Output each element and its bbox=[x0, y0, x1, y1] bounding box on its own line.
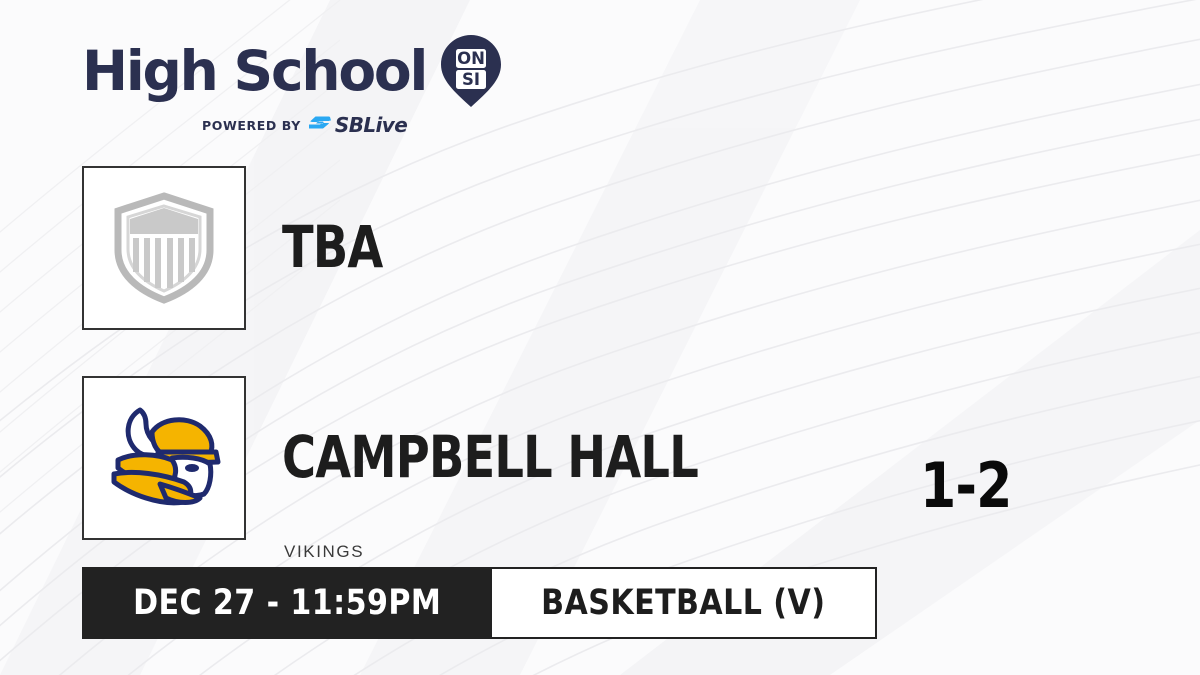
sblive-logo: SBLive bbox=[309, 115, 407, 135]
pin-text-si: SI bbox=[462, 70, 480, 89]
home-team-logo-box bbox=[82, 376, 246, 540]
brand-logo: High School ON SI POWERED BY SBLive bbox=[82, 34, 502, 135]
pin-text-on: ON bbox=[457, 49, 485, 68]
home-team-mascot: VIKINGS bbox=[284, 542, 802, 562]
game-datetime-text: DEC 27 - 11:59PM bbox=[133, 586, 441, 621]
powered-by-row: POWERED BY SBLive bbox=[82, 115, 502, 135]
team-record: 1-2 bbox=[920, 455, 1012, 517]
game-sport-bar: BASKETBALL (V) bbox=[492, 567, 877, 639]
viking-head-icon bbox=[100, 402, 228, 514]
game-info-bar: DEC 27 - 11:59PM BASKETBALL (V) bbox=[82, 567, 877, 639]
game-sport-text: BASKETBALL (V) bbox=[541, 586, 825, 621]
home-team-text: CAMPBELL HALL VIKINGS bbox=[246, 376, 802, 562]
home-team-row: CAMPBELL HALL VIKINGS bbox=[82, 376, 802, 562]
sblive-s-icon bbox=[309, 115, 331, 135]
sblive-wordmark: SBLive bbox=[335, 115, 407, 135]
game-datetime-bar: DEC 27 - 11:59PM bbox=[82, 567, 492, 639]
away-team-logo-box bbox=[82, 166, 246, 330]
brand-primary-row: High School ON SI bbox=[82, 34, 502, 108]
brand-wordmark: High School bbox=[82, 44, 426, 99]
away-team-row: TBA bbox=[82, 166, 408, 330]
powered-by-label: POWERED BY bbox=[202, 118, 301, 133]
on-si-pin-icon: ON SI bbox=[440, 34, 502, 108]
away-team-name: TBA bbox=[282, 218, 383, 276]
away-team-text: TBA bbox=[246, 166, 408, 276]
placeholder-shield-icon bbox=[112, 192, 216, 304]
home-team-name: CAMPBELL HALL bbox=[282, 428, 698, 486]
graphic-canvas: High School ON SI POWERED BY SBLive bbox=[0, 0, 1200, 675]
